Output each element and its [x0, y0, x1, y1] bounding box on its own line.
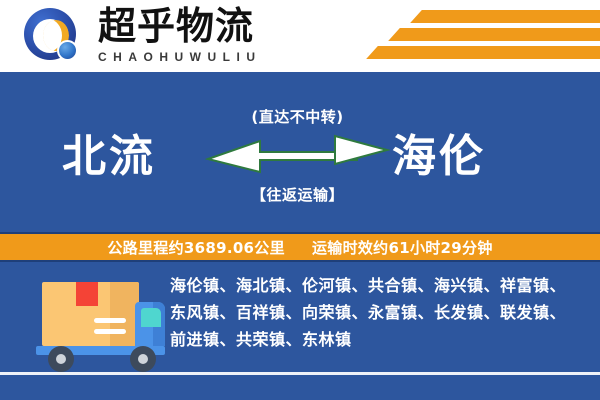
truck-wheel-front	[130, 346, 156, 372]
banner-footer	[0, 375, 600, 400]
truck-box-line-2	[94, 329, 126, 334]
company-logo	[24, 6, 90, 66]
double-arrow-icon	[205, 134, 390, 180]
roundtrip-note: 【往返运输】	[205, 184, 390, 206]
stripe-1	[410, 10, 600, 23]
duration-text: 运输时效约61小时29分钟	[312, 239, 493, 257]
truck-box-line-1	[94, 318, 126, 323]
brand-name-en: CHAOHUWULIU	[98, 49, 262, 65]
coverage-town-list: 海伦镇、海北镇、伦河镇、共合镇、海兴镇、祥富镇、 东风镇、百祥镇、向荣镇、永富镇…	[170, 272, 582, 353]
direct-service-note: (直达不中转)	[205, 106, 390, 128]
brand-name-cn: 超乎物流	[98, 4, 262, 48]
destination-city: 海伦	[392, 129, 486, 185]
coverage-section: 海伦镇、海北镇、伦河镇、共合镇、海兴镇、祥富镇、 东风镇、百祥镇、向荣镇、永富镇…	[0, 262, 600, 372]
coverage-line: 东风镇、百祥镇、向荣镇、永富镇、长发镇、联发镇、	[170, 299, 582, 326]
double-headed-arrow-icon	[205, 134, 390, 180]
origin-city: 北流	[62, 129, 156, 185]
brand-block: 超乎物流 CHAOHUWULIU	[98, 4, 262, 65]
logistics-route-banner: 超乎物流 CHAOHUWULIU 北流 (直达不中转) 【往返运输】	[0, 0, 600, 400]
logo-dot-icon	[57, 40, 78, 61]
truck-window	[141, 308, 161, 327]
route-info-bar: 公路里程约3689.06公里 运输时效约61小时29分钟	[0, 232, 600, 262]
truck-wheel-rear	[48, 346, 74, 372]
stripe-3	[366, 46, 600, 59]
stripe-2	[388, 28, 600, 41]
route-middle: (直达不中转) 【往返运输】	[205, 106, 390, 226]
coverage-line: 海伦镇、海北镇、伦河镇、共合镇、海兴镇、祥富镇、	[170, 272, 582, 299]
banner-header: 超乎物流 CHAOHUWULIU	[0, 0, 600, 72]
decorative-stripes	[340, 8, 600, 64]
coverage-line: 前进镇、共荣镇、东林镇	[170, 326, 582, 353]
route-section: 北流 (直达不中转) 【往返运输】 海伦	[0, 72, 600, 230]
truck-box-label	[76, 282, 98, 306]
info-bar-content: 公路里程约3689.06公里 运输时效约61小时29分钟	[107, 237, 492, 258]
delivery-truck-icon	[22, 274, 162, 366]
distance-text: 公路里程约3689.06公里	[107, 239, 285, 257]
